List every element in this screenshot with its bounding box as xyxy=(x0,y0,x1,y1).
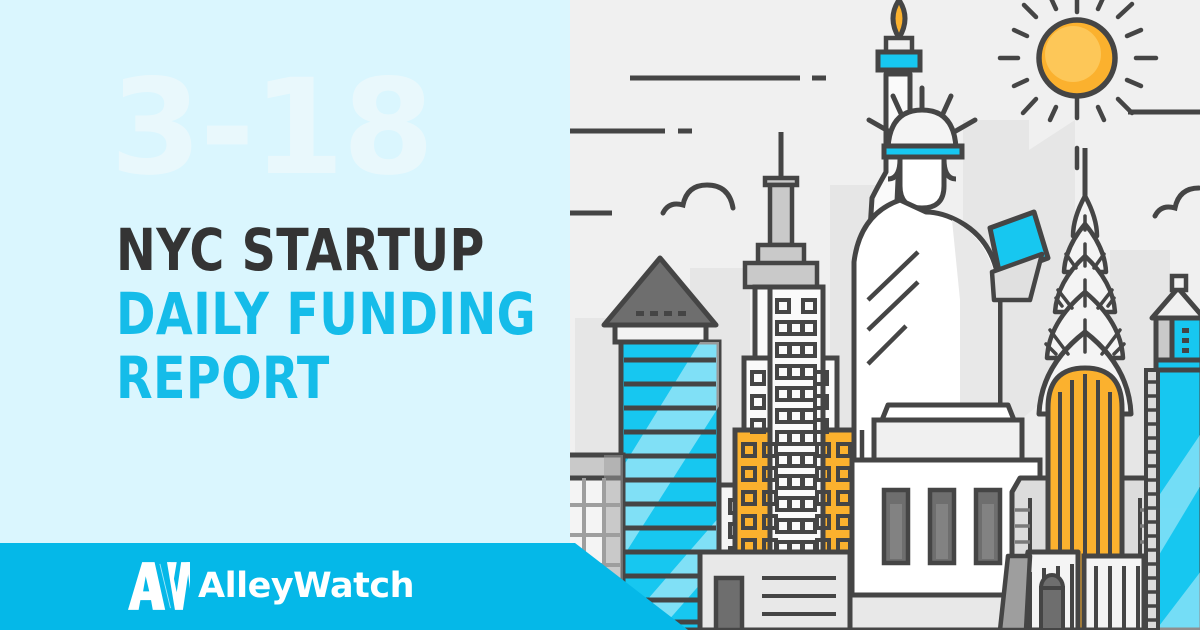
alleywatch-logo[interactable]: AlleyWatch xyxy=(128,560,414,612)
glass-tower-right xyxy=(1146,276,1200,630)
aw-monogram-icon xyxy=(128,562,190,610)
alleywatch-logo-text: AlleyWatch xyxy=(198,569,414,604)
headline-line-1: NYC STARTUP xyxy=(116,218,460,282)
poster-canvas: 3-18 NYC STARTUP DAILY FUNDING REPORT xyxy=(0,0,1200,630)
page-title: NYC STARTUP DAILY FUNDING REPORT xyxy=(116,218,536,410)
headline-line-3: REPORT xyxy=(116,346,460,410)
left-text-panel: 3-18 NYC STARTUP DAILY FUNDING REPORT xyxy=(0,0,570,630)
date-watermark: 3-18 xyxy=(110,62,432,194)
headline-line-2: DAILY FUNDING xyxy=(116,282,460,346)
pedestal-windows xyxy=(884,490,1000,563)
